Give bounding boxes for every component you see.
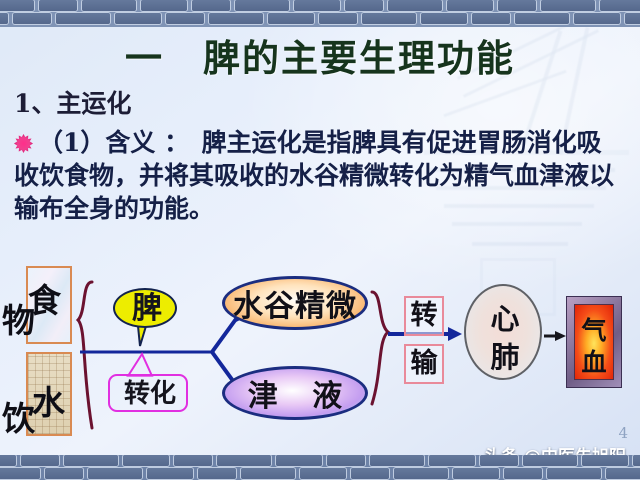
page-number: 4 [618, 424, 628, 442]
page-title: 一 脾的主要生理功能 [0, 28, 640, 82]
result-label-char1: 气 [575, 311, 613, 347]
top-brick-border [0, 0, 640, 27]
output-label-fluids: 津 液 [225, 371, 365, 415]
slide-canvas: 一 脾的主要生理功能 1、主运化 （1）含义 ： 脾主运化是指脾具有促进胃肠消化… [0, 0, 640, 480]
input-label-water-char2: 饮 [2, 392, 35, 440]
physiology-flow-diagram: 食 物 水 饮 脾 转化 水谷精微 津 液 转 输 心 肺 [0, 252, 640, 452]
input-label-food-char2: 物 [2, 294, 35, 342]
process-callout-transform: 转化 [108, 374, 188, 412]
output-label-essence: 水谷精微 [225, 281, 365, 325]
result-node-inner: 气 血 [574, 304, 614, 380]
result-node-qi-blood: 气 血 [566, 296, 622, 388]
transport-box-char1: 转 [404, 296, 444, 336]
output-node-fluids: 津 液 [222, 366, 368, 420]
definition-lead: （1）含义 ： [38, 128, 177, 157]
bottom-brick-border [0, 455, 640, 480]
transport-label-char2: 输 [406, 346, 442, 382]
input-label-water-char1: 水 [32, 376, 65, 424]
process-callout-label: 转化 [110, 376, 190, 412]
organ-node-label-char1: 心 [466, 296, 544, 338]
result-label-char2: 血 [575, 343, 613, 379]
section-subheading: 1、主运化 [14, 84, 131, 120]
organ-node-label-char2: 肺 [466, 334, 544, 376]
output-node-essence: 水谷精微 [222, 276, 368, 330]
organ-node-heart-lung: 心 肺 [464, 284, 542, 380]
organ-callout-label: 脾 [115, 291, 179, 327]
starburst-icon [14, 134, 33, 153]
transport-label-char1: 转 [406, 298, 442, 334]
definition-paragraph: （1）含义 ： 脾主运化是指脾具有促进胃肠消化吸收饮食物，并将其吸收的水谷精微转… [14, 126, 626, 225]
organ-callout-spleen: 脾 [113, 288, 177, 328]
transport-box-char2: 输 [404, 344, 444, 384]
